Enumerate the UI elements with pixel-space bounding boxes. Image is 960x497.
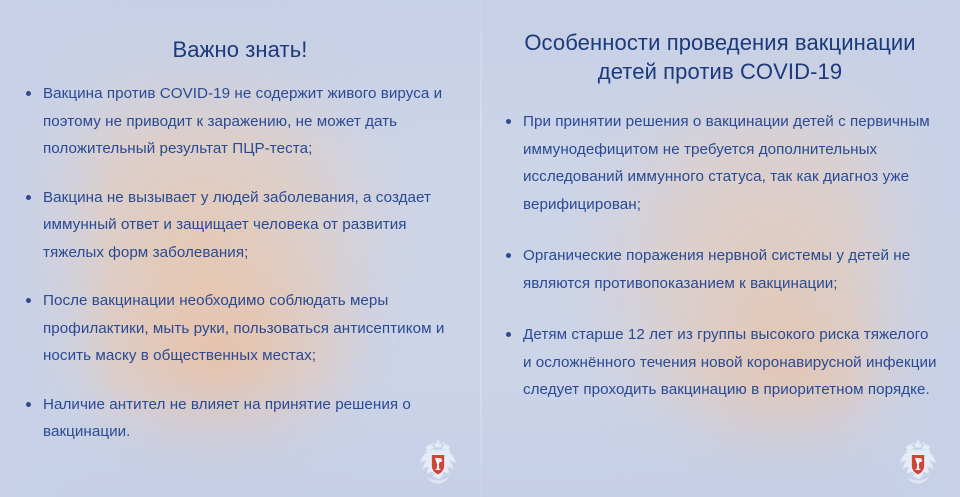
panel-heading-left: Важно знать! bbox=[22, 35, 458, 64]
list-item: Вакцина не вызывает у людей заболевания,… bbox=[22, 184, 458, 267]
ministry-of-health-emblem-icon bbox=[894, 437, 942, 487]
panel-heading-right: Особенности проведения вакцинации детей … bbox=[502, 28, 938, 86]
columns-container: Важно знать! Вакцина против COVID-19 не … bbox=[0, 0, 960, 497]
list-item: Детям старше 12 лет из группы высокого р… bbox=[502, 321, 938, 404]
list-item: Наличие антител не влияет на принятие ре… bbox=[22, 391, 458, 446]
panel-child-vaccination-specifics: Особенности проведения вакцинации детей … bbox=[480, 0, 960, 497]
list-item: После вакцинации необходимо соблюдать ме… bbox=[22, 287, 458, 370]
bullet-list-right: При принятии решения о вакцинации детей … bbox=[502, 108, 938, 404]
slide-canvas: Важно знать! Вакцина против COVID-19 не … bbox=[0, 0, 960, 497]
bullet-list-left: Вакцина против COVID-19 не содержит живо… bbox=[22, 80, 458, 446]
panel-important-to-know: Важно знать! Вакцина против COVID-19 не … bbox=[0, 0, 480, 497]
ministry-of-health-emblem-icon bbox=[414, 437, 462, 487]
list-item: Вакцина против COVID-19 не содержит живо… bbox=[22, 80, 458, 163]
list-item: Органические поражения нервной системы у… bbox=[502, 242, 938, 297]
list-item: При принятии решения о вакцинации детей … bbox=[502, 108, 938, 218]
